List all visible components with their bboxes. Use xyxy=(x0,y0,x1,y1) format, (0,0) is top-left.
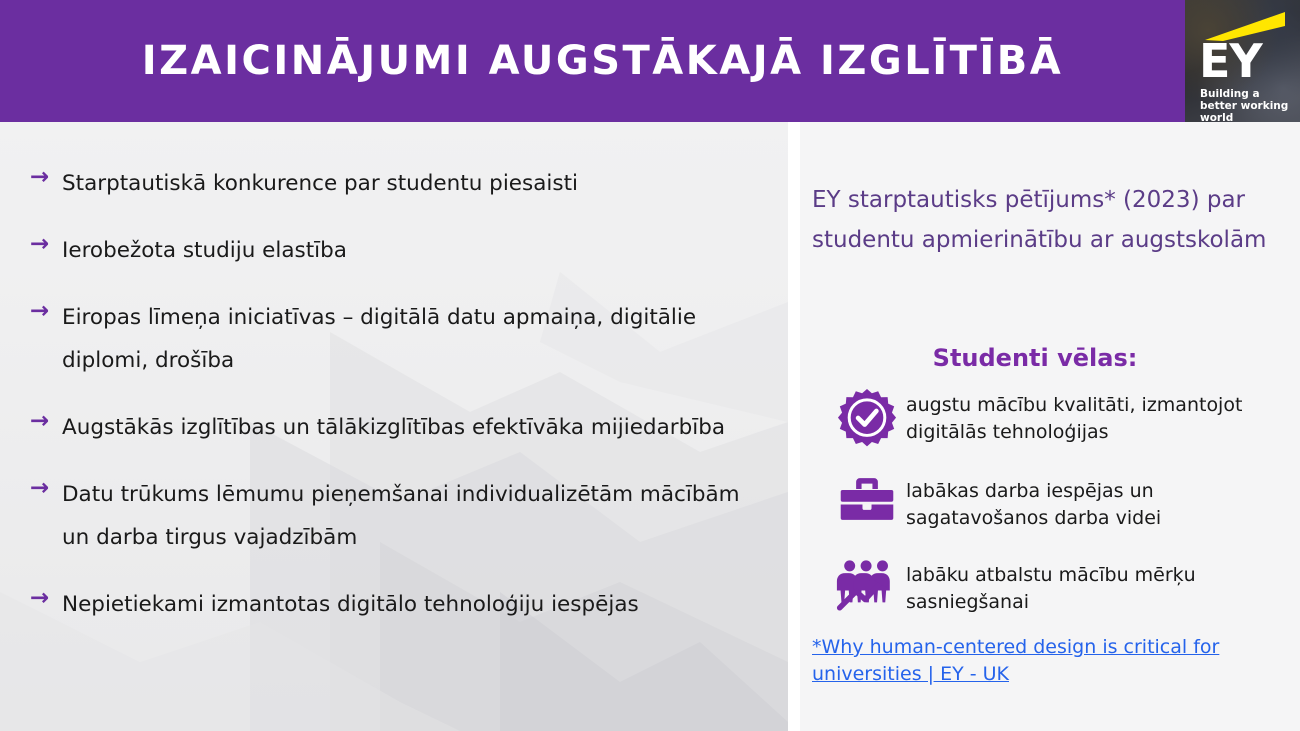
list-item: augstu mācību kvalitāti, izmantojot digi… xyxy=(828,388,1288,448)
list-item: labākas darba iespējas un sagatavošanos … xyxy=(828,474,1288,532)
survey-panel: EY starptautisks pētījums* (2023) par st… xyxy=(800,122,1300,731)
students-want-title: Studenti vēlas: xyxy=(800,344,1270,372)
list-item: labāku atbalstu mācību mērķu sasniegšana… xyxy=(828,558,1288,616)
challenges-list: → Starptautiskā konkurence par studentu … xyxy=(30,162,760,650)
arrow-right-icon: → xyxy=(30,406,62,436)
list-item: → Augstākās izglītības un tālākizglītība… xyxy=(30,406,760,449)
list-item: → Ierobežota studiju elastība xyxy=(30,229,760,272)
want-text: augstu mācību kvalitāti, izmantojot digi… xyxy=(906,388,1288,446)
arrow-right-icon: → xyxy=(30,296,62,326)
survey-heading: EY starptautisks pētījums* (2023) par st… xyxy=(812,180,1300,260)
students-want-list: augstu mācību kvalitāti, izmantojot digi… xyxy=(828,388,1288,642)
arrow-right-icon: → xyxy=(30,583,62,613)
list-item: → Eiropas līmeņa iniciatīvas – digitālā … xyxy=(30,296,760,382)
challenges-panel: → Starptautiskā konkurence par studentu … xyxy=(0,122,788,731)
source-link[interactable]: *Why human-centered design is critical f… xyxy=(812,634,1252,688)
list-item: → Datu trūkums lēmumu pieņemšanai indivi… xyxy=(30,473,760,559)
bullet-text: Datu trūkums lēmumu pieņemšanai individu… xyxy=(62,473,760,559)
bullet-text: Augstākās izglītības un tālākizglītības … xyxy=(62,406,760,449)
bullet-text: Starptautiskā konkurence par studentu pi… xyxy=(62,162,760,205)
arrow-right-icon: → xyxy=(30,229,62,259)
want-text: labāku atbalstu mācību mērķu sasniegšana… xyxy=(906,558,1288,616)
arrow-right-icon: → xyxy=(30,162,62,192)
bullet-text: Eiropas līmeņa iniciatīvas – digitālā da… xyxy=(62,296,760,382)
people-growth-chart-icon xyxy=(828,558,906,612)
ey-tagline: Building a better working world xyxy=(1200,88,1295,122)
verified-badge-icon xyxy=(828,388,906,448)
bullet-text: Ierobežota studiju elastība xyxy=(62,229,760,272)
ey-letters: EY xyxy=(1199,38,1262,84)
page-title: IZAICINĀJUMI AUGSTĀKAJĀ IZGLĪTĪBĀ xyxy=(0,0,1185,122)
list-item: → Nepietiekami izmantotas digitālo tehno… xyxy=(30,583,760,626)
list-item: → Starptautiskā konkurence par studentu … xyxy=(30,162,760,205)
slide-header: IZAICINĀJUMI AUGSTĀKAJĀ IZGLĪTĪBĀ EY Bui… xyxy=(0,0,1300,122)
want-text: labākas darba iespējas un sagatavošanos … xyxy=(906,474,1288,532)
briefcase-icon xyxy=(828,474,906,524)
slide: IZAICINĀJUMI AUGSTĀKAJĀ IZGLĪTĪBĀ EY Bui… xyxy=(0,0,1300,731)
arrow-right-icon: → xyxy=(30,473,62,503)
ey-logo: EY Building a better working world xyxy=(1185,0,1300,122)
bullet-text: Nepietiekami izmantotas digitālo tehnolo… xyxy=(62,583,760,626)
